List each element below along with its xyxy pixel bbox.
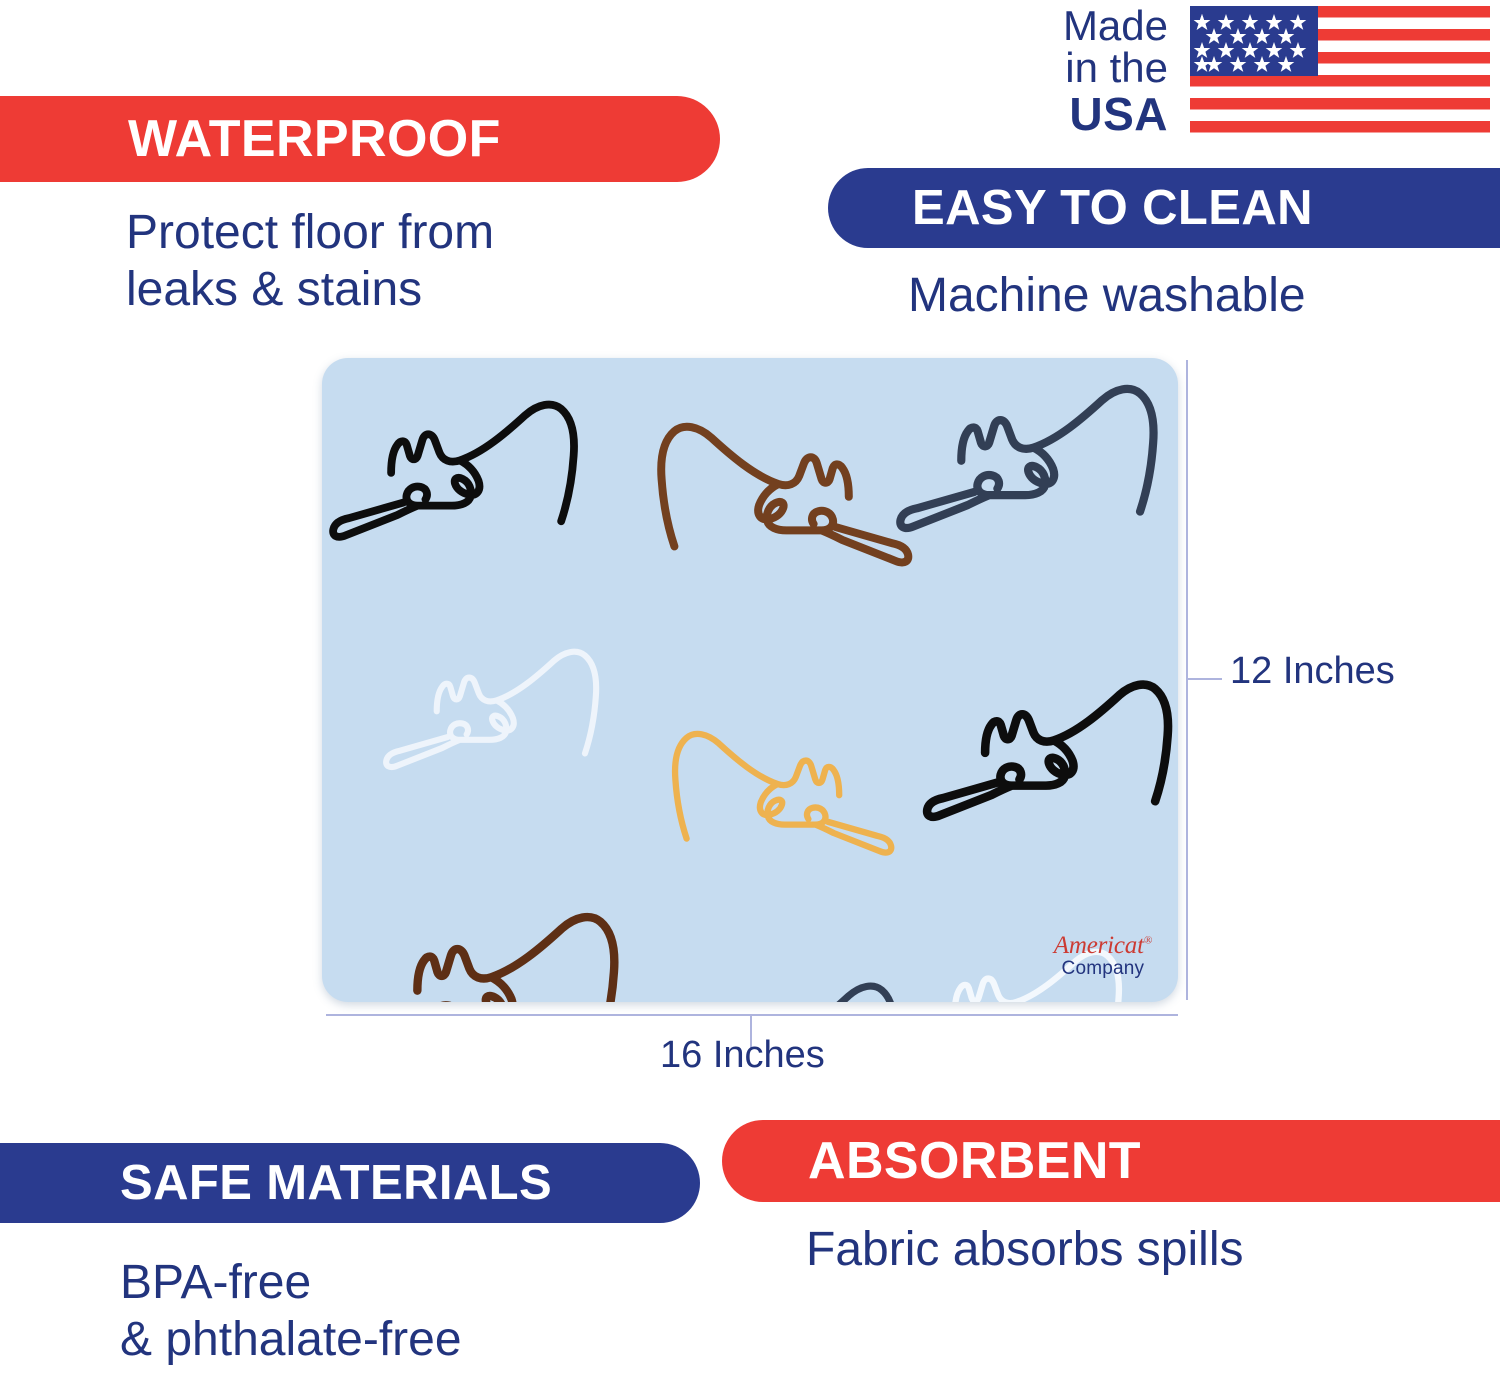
- product-image-mat: Americat® Company: [322, 358, 1178, 1002]
- feature-title-easy-to-clean: EASY TO CLEAN: [912, 180, 1313, 236]
- feature-banner-safe-materials: SAFE MATERIALS: [0, 1143, 700, 1223]
- cat-orange-center: [675, 734, 891, 853]
- badge-line-1: Made: [1063, 6, 1168, 47]
- cat-white-mid-left: [386, 652, 596, 767]
- americat-logo: Americat® Company: [1054, 933, 1152, 978]
- feature-description-safe-materials: BPA-free & phthalate-free: [120, 1255, 462, 1368]
- height-dimension-tick: [1188, 678, 1222, 680]
- badge-line-2: in the: [1065, 48, 1168, 89]
- cat-black-mid-right: [927, 685, 1168, 817]
- cat-slate-bottom-center: [671, 986, 893, 1002]
- width-dimension-label: 16 Inches: [660, 1034, 825, 1077]
- cat-black-top-left: [333, 405, 574, 537]
- height-dimension-label: 12 Inches: [1230, 650, 1395, 693]
- height-dimension-line: [1186, 360, 1188, 1000]
- feature-banner-waterproof: WATERPROOF: [0, 96, 720, 182]
- logo-brand-name: Americat®: [1054, 933, 1152, 958]
- cat-pattern: [322, 358, 1178, 1002]
- feature-title-absorbent: ABSORBENT: [808, 1131, 1141, 1191]
- feature-banner-absorbent: ABSORBENT: [722, 1120, 1500, 1202]
- width-dimension-line: [326, 1014, 1178, 1016]
- feature-banner-easy-to-clean: EASY TO CLEAN: [828, 168, 1500, 248]
- product-infographic: Made in the USA: [0, 0, 1500, 1385]
- badge-line-3: USA: [1069, 92, 1168, 137]
- feature-description-easy-to-clean: Machine washable: [908, 268, 1306, 325]
- cat-brown-top-center: [661, 427, 908, 563]
- cat-slate-top-right: [900, 389, 1153, 528]
- feature-title-waterproof: WATERPROOF: [128, 109, 501, 169]
- us-flag-icon: [1190, 6, 1490, 140]
- cat-darkbrown-bottom-left: [355, 917, 614, 1002]
- logo-company-word: Company: [1054, 959, 1152, 978]
- feature-description-absorbent: Fabric absorbs spills: [806, 1222, 1243, 1279]
- made-in-usa-badge: Made in the USA: [1012, 4, 1498, 140]
- feature-description-waterproof: Protect floor from leaks & stains: [126, 205, 494, 318]
- feature-title-safe-materials: SAFE MATERIALS: [120, 1155, 552, 1211]
- registered-mark: ®: [1144, 935, 1152, 947]
